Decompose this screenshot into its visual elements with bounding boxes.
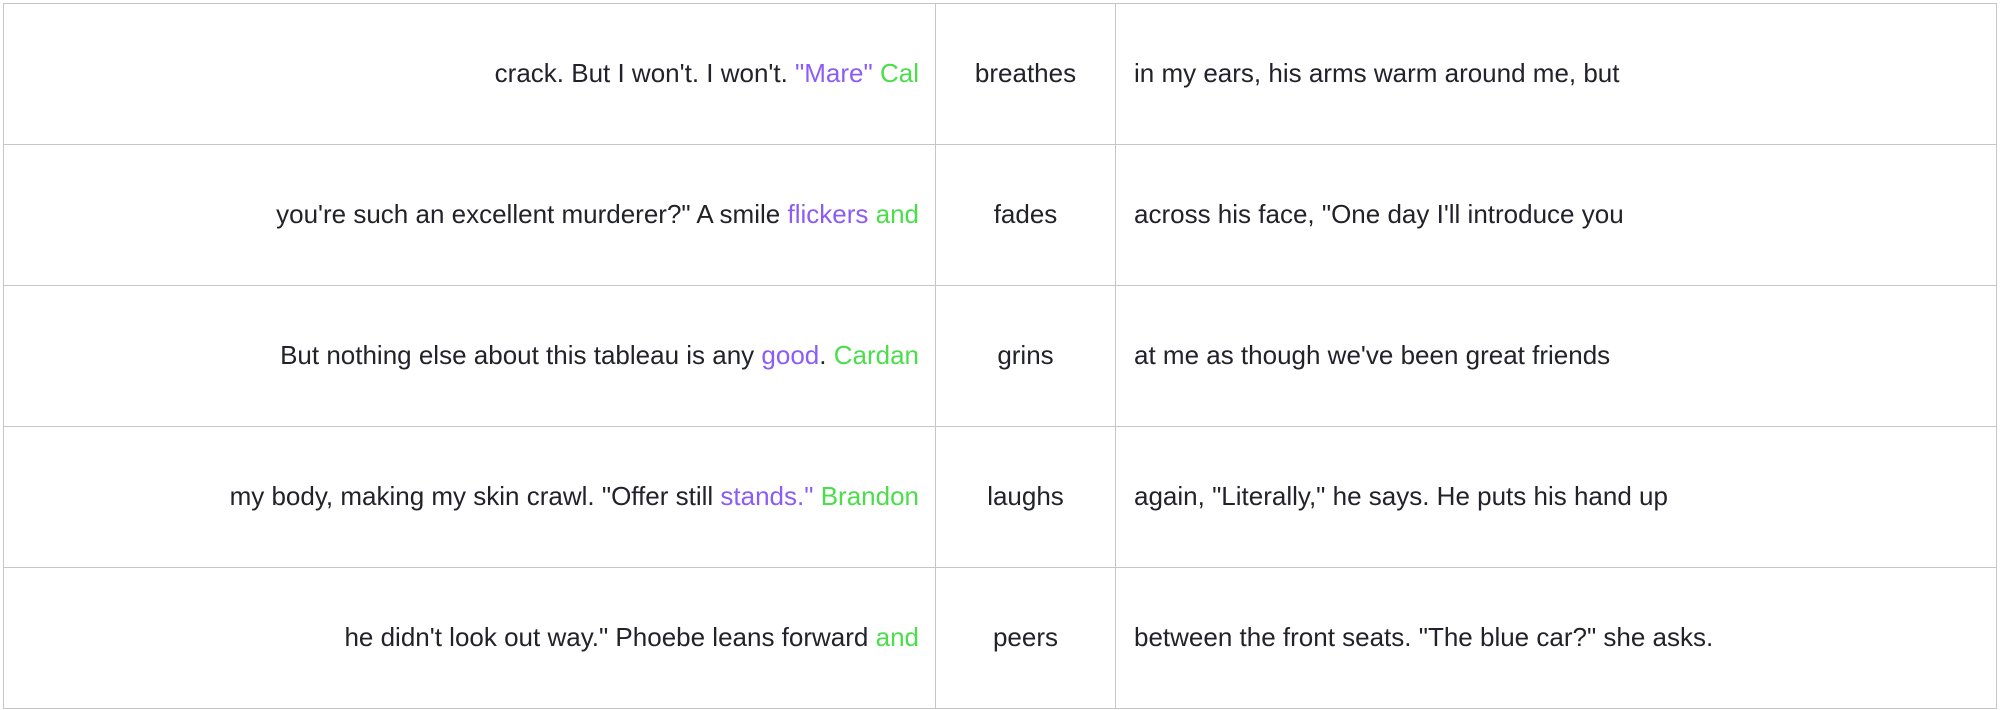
token-plain: my body, making my skin crawl. "Offer st… [230, 481, 721, 511]
left-context-cell: my body, making my skin crawl. "Offer st… [4, 427, 936, 568]
concordance-table-container: crack. But I won't. I won't. "Mare" Cal … [0, 0, 2002, 710]
token-plain: he didn't look out way." Phoebe leans fo… [344, 622, 875, 652]
left-context-text: But nothing else about this tableau is a… [280, 340, 919, 370]
token-purple: "Mare" [795, 58, 873, 88]
token-green: Cardan [834, 340, 919, 370]
keyword-cell: laughs [936, 427, 1116, 568]
right-context-cell: in my ears, his arms warm around me, but [1116, 4, 1997, 145]
token-plain: crack. But I won't. I won't. [495, 58, 795, 88]
token-green: and [876, 199, 919, 229]
left-context-cell: he didn't look out way." Phoebe leans fo… [4, 568, 936, 709]
keyword-cell: grins [936, 286, 1116, 427]
table-row: crack. But I won't. I won't. "Mare" Cal … [4, 4, 1997, 145]
left-context-text: you're such an excellent murderer?" A sm… [276, 199, 919, 229]
token-plain [868, 199, 875, 229]
left-context-cell: crack. But I won't. I won't. "Mare" Cal [4, 4, 936, 145]
token-green: Brandon [821, 481, 919, 511]
token-green: and [876, 622, 919, 652]
token-plain: . [819, 340, 833, 370]
token-purple: good [761, 340, 819, 370]
right-context-cell: across his face, "One day I'll introduce… [1116, 145, 1997, 286]
table-row: you're such an excellent murderer?" A sm… [4, 145, 1997, 286]
token-purple: flickers [787, 199, 868, 229]
right-context-cell: again, "Literally," he says. He puts his… [1116, 427, 1997, 568]
token-plain [873, 58, 880, 88]
right-context-cell: at me as though we've been great friends [1116, 286, 1997, 427]
left-context-text: he didn't look out way." Phoebe leans fo… [344, 622, 919, 652]
keyword-cell: fades [936, 145, 1116, 286]
table-row: he didn't look out way." Phoebe leans fo… [4, 568, 1997, 709]
token-plain: But nothing else about this tableau is a… [280, 340, 761, 370]
table-row: my body, making my skin crawl. "Offer st… [4, 427, 1997, 568]
table-row: But nothing else about this tableau is a… [4, 286, 1997, 427]
token-plain [813, 481, 820, 511]
left-context-cell: But nothing else about this tableau is a… [4, 286, 936, 427]
token-green: Cal [880, 58, 919, 88]
right-context-cell: between the front seats. "The blue car?"… [1116, 568, 1997, 709]
concordance-table: crack. But I won't. I won't. "Mare" Cal … [3, 3, 1997, 709]
keyword-cell: peers [936, 568, 1116, 709]
keyword-cell: breathes [936, 4, 1116, 145]
token-plain: you're such an excellent murderer?" A sm… [276, 199, 787, 229]
left-context-text: crack. But I won't. I won't. "Mare" Cal [495, 58, 919, 88]
concordance-table-body: crack. But I won't. I won't. "Mare" Cal … [4, 4, 1997, 709]
left-context-text: my body, making my skin crawl. "Offer st… [230, 481, 919, 511]
token-purple: stands." [720, 481, 813, 511]
left-context-cell: you're such an excellent murderer?" A sm… [4, 145, 936, 286]
